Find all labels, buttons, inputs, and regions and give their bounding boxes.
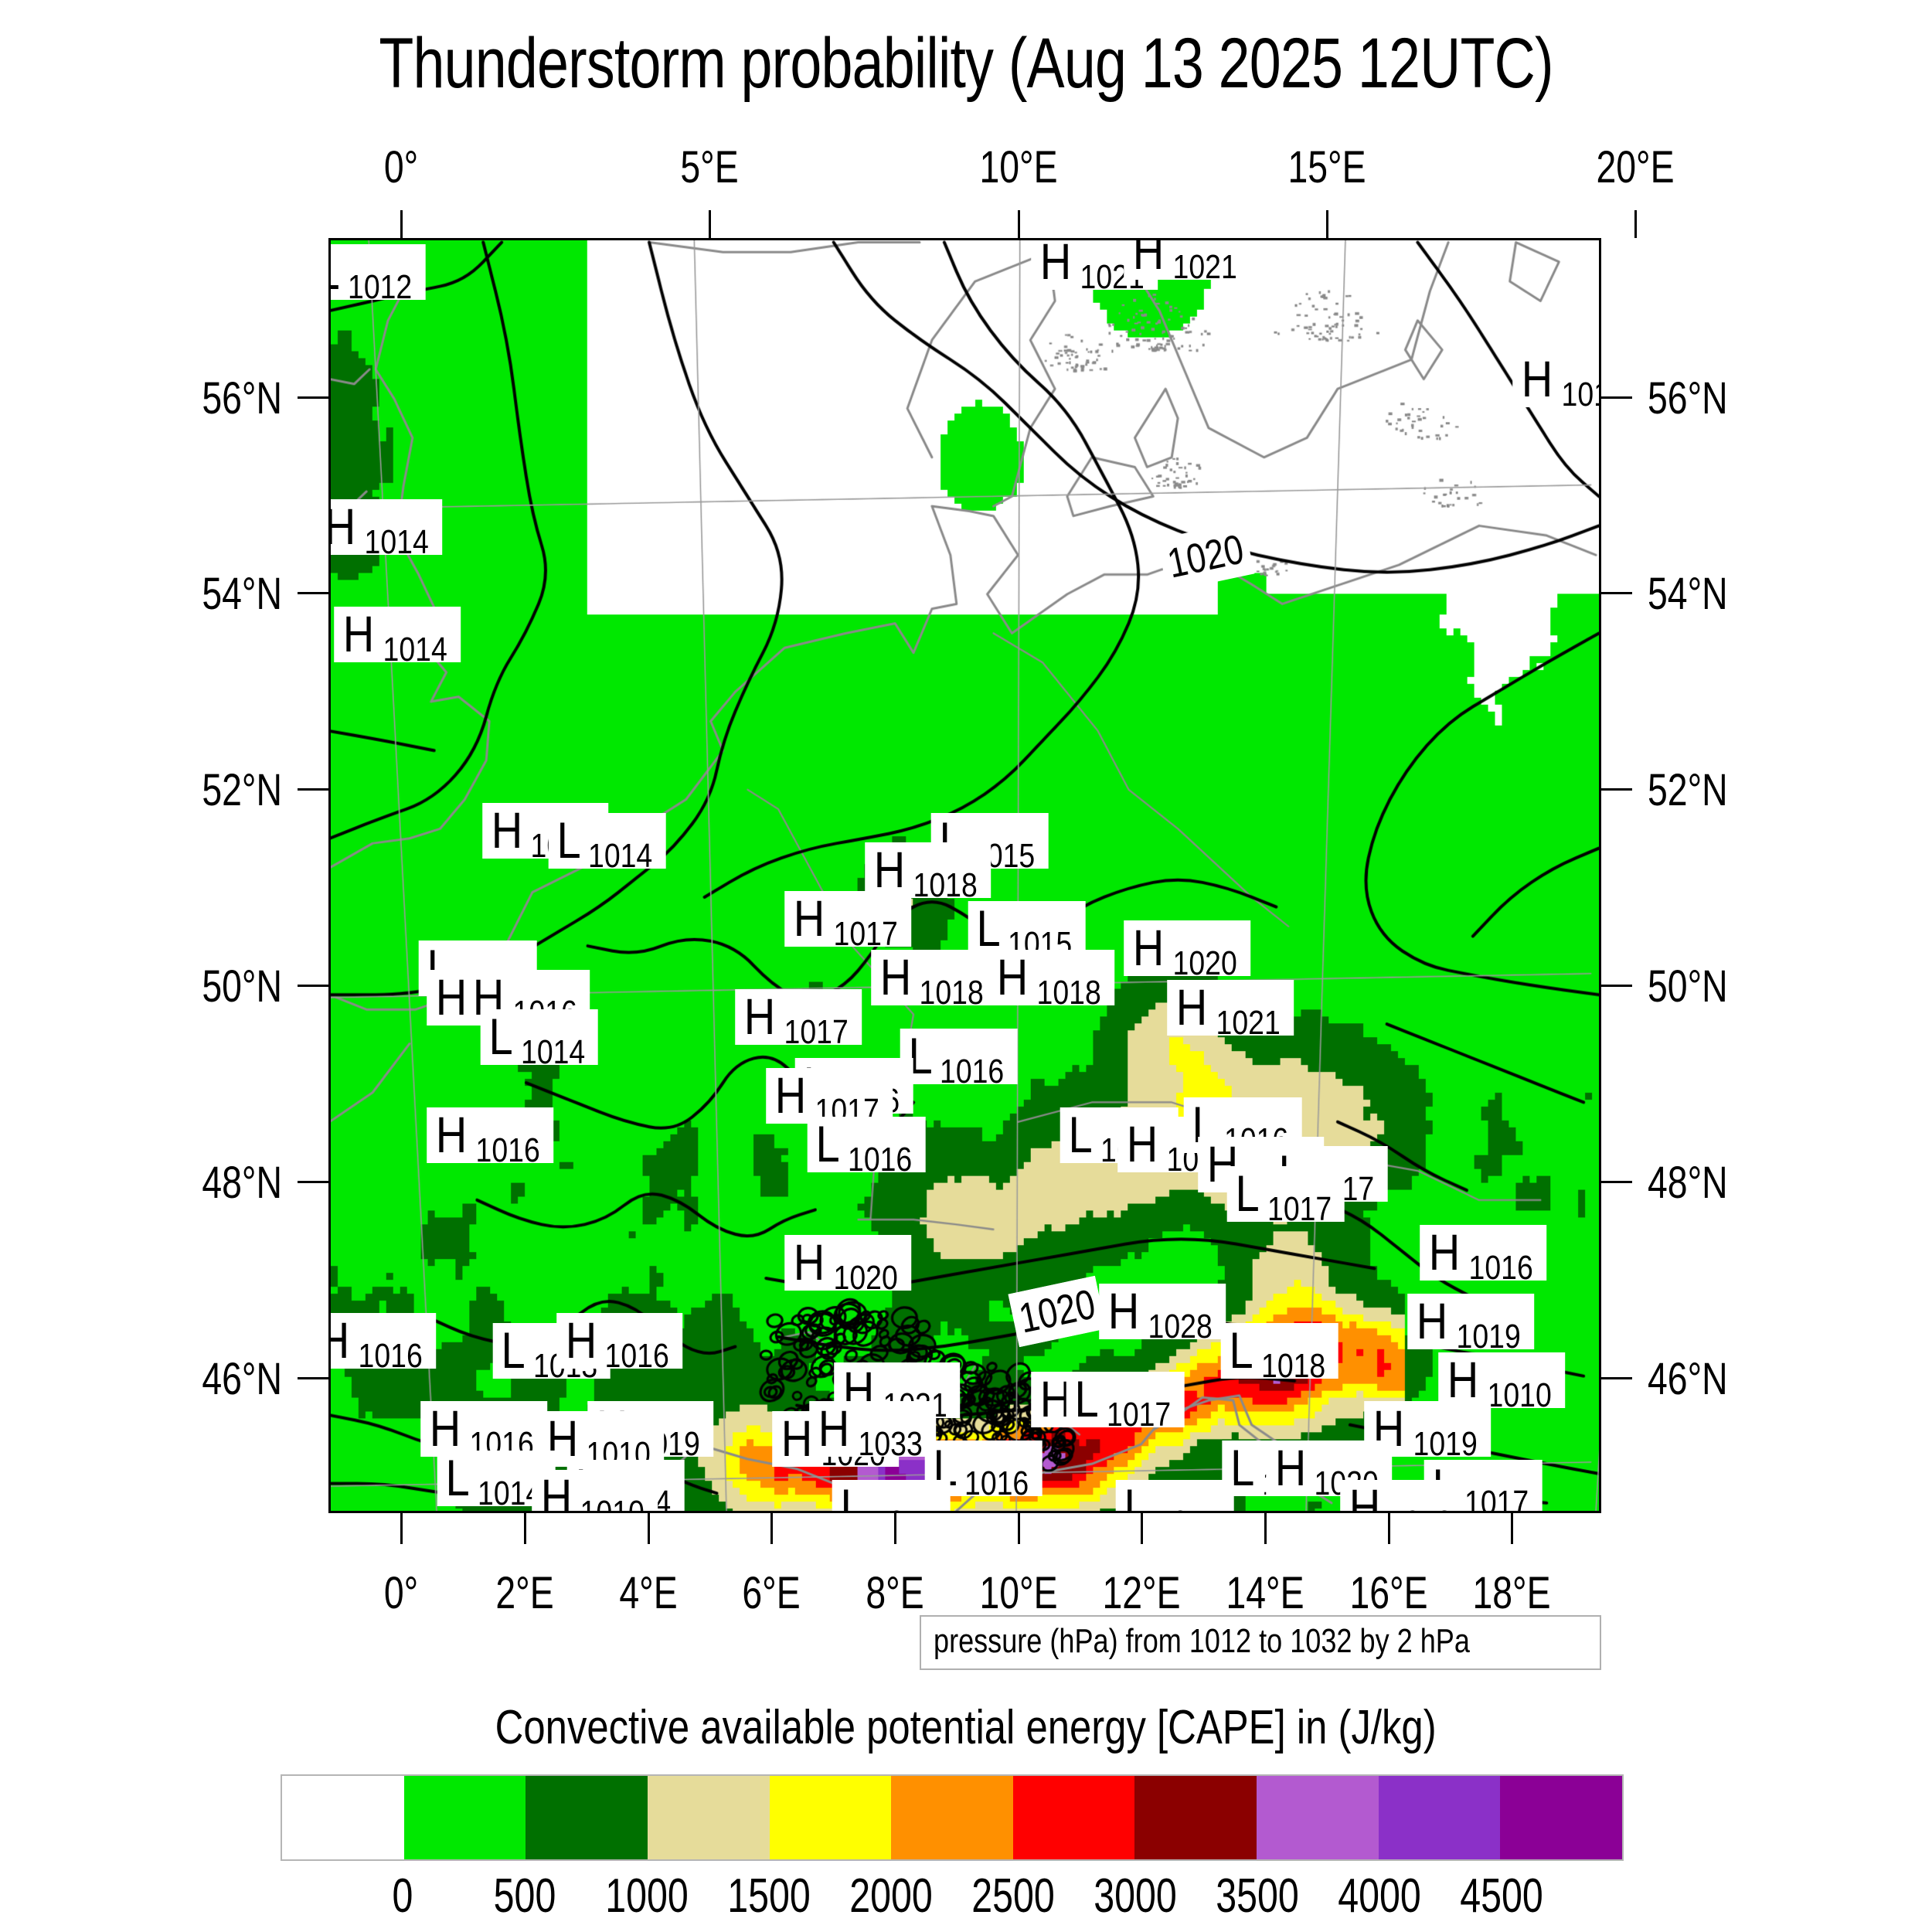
axis-label-right-3: 50°N <box>1648 961 1728 1012</box>
extremum-type: L <box>488 1011 512 1062</box>
colorbar-tick-0: 0 <box>393 1869 413 1923</box>
extremum-type: L <box>815 1118 839 1169</box>
pressure-extremum-label: H1016 <box>427 1107 553 1163</box>
colorbar-tick-4: 2000 <box>849 1869 933 1923</box>
extremum-value: 1016 <box>605 1339 669 1373</box>
axis-label-bottom-1: 2°E <box>495 1567 553 1619</box>
tick-left-4 <box>298 1181 328 1183</box>
tick-left-5 <box>298 1377 328 1379</box>
extremum-type: H <box>880 951 912 1002</box>
tick-right-5 <box>1601 1377 1632 1379</box>
extremum-type: H <box>1040 238 1072 287</box>
colorbar-segment-9[interactable] <box>1379 1776 1501 1859</box>
tick-right-1 <box>1601 592 1632 594</box>
pressure-extremum-label: H1020 <box>1124 920 1250 976</box>
tick-right-4 <box>1601 1181 1632 1183</box>
tick-bottom-2 <box>648 1513 650 1544</box>
extremum-value: 1017 <box>833 917 897 951</box>
extremum-type: L <box>1230 1442 1254 1493</box>
extremum-type: H <box>794 893 825 944</box>
tick-top-1 <box>709 210 711 238</box>
extremum-value: 1028 <box>1148 1310 1212 1344</box>
extremum-value: 1020 <box>833 1261 897 1295</box>
extremum-type: H <box>1349 1481 1380 1513</box>
pressure-extremum-label: H1018 <box>871 950 998 1005</box>
pressure-extremum-label: L1015 <box>832 1480 951 1513</box>
extremum-type: H <box>997 951 1029 1002</box>
colorbar-segment-6[interactable] <box>1013 1776 1135 1859</box>
axis-label-bottom-5: 10°E <box>979 1567 1057 1619</box>
extremum-type: L <box>1235 1168 1259 1219</box>
pressure-extremum-label: H1010 <box>538 1411 665 1467</box>
colorbar-segment-2[interactable] <box>526 1776 648 1859</box>
pressure-extremum-label: L1015 <box>1116 1480 1234 1513</box>
pressure-extremum-label: H1021 <box>1167 980 1294 1036</box>
axis-label-right-1: 54°N <box>1648 568 1728 620</box>
axis-label-right-0: 56°N <box>1648 372 1728 424</box>
extremum-value: 1019 <box>1561 378 1601 412</box>
extremum-value: 1014 <box>521 1036 585 1070</box>
colorbar-tick-1: 500 <box>494 1869 556 1923</box>
extremum-value: 1019 <box>1413 1427 1478 1461</box>
axis-label-top-2: 10°E <box>979 141 1057 193</box>
colorbar-tick-6: 3000 <box>1094 1869 1177 1923</box>
axis-label-top-0: 0° <box>384 141 418 193</box>
colorbar-tick-7: 3500 <box>1216 1869 1299 1923</box>
extremum-value: 1016 <box>940 1055 1004 1089</box>
axis-label-bottom-9: 18°E <box>1473 1567 1551 1619</box>
extremum-value: 1033 <box>858 1427 922 1461</box>
colorbar-segment-0[interactable] <box>282 1776 404 1859</box>
cape-colorbar[interactable] <box>281 1774 1624 1861</box>
extremum-value: 1016 <box>1469 1251 1533 1285</box>
pressure-extremum-label: L1012 <box>328 244 426 300</box>
map-plot-area[interactable]: 10201020L1012H1014H1014H1021H1021H1019H1… <box>328 238 1601 1513</box>
extremum-type: H <box>1108 1285 1140 1336</box>
extremum-type: L <box>328 246 340 297</box>
tick-left-3 <box>298 985 328 987</box>
pressure-extremum-label: H1021 <box>1124 238 1250 280</box>
tick-top-4 <box>1634 210 1637 238</box>
extremum-value: 1015 <box>1156 1506 1220 1513</box>
extremum-type: H <box>436 1109 468 1160</box>
extremum-value: 1016 <box>359 1339 423 1373</box>
axis-label-bottom-8: 16°E <box>1349 1567 1427 1619</box>
pressure-extremum-label: H1010 <box>1438 1352 1565 1408</box>
extremum-value: 1018 <box>1037 976 1101 1010</box>
extremum-type: H <box>1133 238 1165 277</box>
pressure-contour-note: pressure (hPa) from 1012 to 1032 by 2 hP… <box>920 1615 1601 1670</box>
extremum-value: 1010 <box>1487 1379 1551 1413</box>
axis-label-left-0: 56°N <box>202 372 282 424</box>
extremum-type: H <box>1447 1354 1479 1405</box>
tick-bottom-0 <box>400 1513 403 1544</box>
extremum-value: 1014 <box>383 633 447 667</box>
tick-right-2 <box>1601 788 1632 791</box>
pressure-extremum-label: L1014 <box>548 813 666 869</box>
extremum-value: 1014 <box>364 526 428 560</box>
colorbar-tick-3: 1500 <box>727 1869 811 1923</box>
extremum-type: H <box>874 844 906 895</box>
pressure-extremum-label: H1016 <box>328 1313 436 1369</box>
extremum-value: 1018 <box>913 869 978 903</box>
colorbar-tick-2: 1000 <box>605 1869 689 1923</box>
pressure-extremum-label: H1019 <box>1408 1294 1535 1349</box>
extremum-type: H <box>343 608 375 659</box>
extremum-type: H <box>775 1070 807 1121</box>
extremum-type: H <box>794 1236 825 1287</box>
extremum-type: L <box>840 1481 864 1513</box>
colorbar-title: Convective available potential energy [C… <box>0 1700 1932 1755</box>
axis-label-bottom-0: 0° <box>384 1567 418 1619</box>
extremum-type: L <box>976 903 1000 954</box>
axis-label-right-4: 48°N <box>1648 1157 1728 1209</box>
extremum-value: 1021 <box>1216 1006 1280 1040</box>
extremum-type: H <box>1522 353 1553 404</box>
extremum-type: L <box>1075 1373 1099 1424</box>
colorbar-tick-labels: 050010001500200025003000350040004500 <box>281 1869 1624 1930</box>
extremum-type: H <box>1133 922 1165 973</box>
tick-bottom-5 <box>1018 1513 1020 1544</box>
pressure-extremum-label: L1018 <box>1221 1323 1339 1379</box>
extremum-type: H <box>540 1471 572 1513</box>
colorbar-tick-9: 4500 <box>1460 1869 1543 1923</box>
pressure-extremum-label: H1014 <box>328 499 442 555</box>
colorbar-segment-7[interactable] <box>1134 1776 1257 1859</box>
axis-label-left-1: 54°N <box>202 568 282 620</box>
tick-left-2 <box>298 788 328 791</box>
tick-bottom-1 <box>524 1513 526 1544</box>
extremum-type: H <box>1176 981 1208 1032</box>
pressure-contour-note-text: pressure (hPa) from 1012 to 1032 by 2 hP… <box>934 1622 1470 1661</box>
axis-label-left-5: 46°N <box>202 1353 282 1405</box>
extremum-value: 1017 <box>1464 1486 1529 1513</box>
axis-label-bottom-2: 4°E <box>619 1567 677 1619</box>
tick-left-1 <box>298 592 328 594</box>
tick-bottom-3 <box>770 1513 773 1544</box>
tick-bottom-7 <box>1264 1513 1267 1544</box>
pressure-extremum-label: H1028 <box>1099 1284 1226 1339</box>
extremum-type: H <box>430 1403 461 1454</box>
colorbar-tick-8: 4000 <box>1338 1869 1421 1923</box>
extremum-type: L <box>1069 1109 1093 1160</box>
axis-label-bottom-3: 6°E <box>743 1567 801 1619</box>
axis-label-left-3: 50°N <box>202 961 282 1012</box>
extremum-type: H <box>744 991 776 1042</box>
colorbar-segment-4[interactable] <box>770 1776 892 1859</box>
extremum-type: H <box>781 1413 813 1464</box>
pressure-extremum-label: H1017 <box>784 891 911 947</box>
tick-left-0 <box>298 396 328 399</box>
colorbar-tick-5: 2500 <box>971 1869 1055 1923</box>
extremum-type: H <box>328 1315 350 1366</box>
extremum-value: 1017 <box>1267 1192 1332 1226</box>
extremum-type: L <box>556 815 580 866</box>
tick-bottom-8 <box>1388 1513 1390 1544</box>
extremum-type: H <box>818 1403 850 1454</box>
axis-label-bottom-6: 12°E <box>1103 1567 1181 1619</box>
extremum-value: 1017 <box>784 1015 848 1049</box>
tick-bottom-6 <box>1141 1513 1143 1544</box>
axis-label-top-3: 15°E <box>1287 141 1366 193</box>
extremum-value: 1016 <box>964 1467 1029 1501</box>
pressure-extremum-label: H1020 <box>784 1235 911 1291</box>
colorbar-segment-8[interactable] <box>1257 1776 1379 1859</box>
extremum-value: 1017 <box>1107 1398 1171 1432</box>
axis-label-top-1: 5°E <box>681 141 739 193</box>
pressure-extremum-label: H1016 <box>1420 1225 1547 1281</box>
extremum-type: H <box>1429 1226 1461 1277</box>
axis-label-top-4: 20°E <box>1596 141 1674 193</box>
axis-label-right-5: 46°N <box>1648 1353 1728 1405</box>
pressure-extremum-label: H1019 <box>1512 352 1601 407</box>
tick-right-3 <box>1601 985 1632 987</box>
colorbar-title-text: Convective available potential energy [C… <box>495 1700 1437 1755</box>
colorbar-segment-3[interactable] <box>648 1776 770 1859</box>
extremum-type: H <box>492 804 523 855</box>
axis-label-left-4: 48°N <box>202 1157 282 1209</box>
pressure-extremum-label: H1019 <box>1340 1480 1467 1513</box>
extremum-type: L <box>501 1325 525 1376</box>
tick-top-3 <box>1326 210 1328 238</box>
extremum-value: 1010 <box>580 1496 645 1513</box>
extremum-type: H <box>565 1315 597 1366</box>
extremum-value: 1021 <box>1172 250 1236 284</box>
pressure-extremum-label: H1018 <box>988 950 1115 1005</box>
tick-top-0 <box>400 210 403 238</box>
extremum-value: 1016 <box>475 1134 539 1168</box>
pressure-extremum-label: L1017 <box>1227 1166 1345 1222</box>
extremum-type: H <box>1127 1118 1158 1169</box>
extremum-type: H <box>436 971 468 1022</box>
tick-top-2 <box>1018 210 1020 238</box>
colorbar-segment-5[interactable] <box>891 1776 1013 1859</box>
tick-bottom-9 <box>1511 1513 1513 1544</box>
tick-bottom-4 <box>894 1513 896 1544</box>
pressure-extremum-label: H1018 <box>865 842 992 898</box>
pressure-extremum-label: H1016 <box>556 1313 683 1369</box>
colorbar-segment-1[interactable] <box>404 1776 526 1859</box>
pressure-extremum-label: L1017 <box>1066 1372 1185 1427</box>
colorbar-segment-10[interactable] <box>1500 1776 1622 1859</box>
extremum-value: 1020 <box>1172 947 1236 981</box>
extremum-value: 1016 <box>848 1143 912 1177</box>
extremum-value: 1018 <box>920 976 984 1010</box>
pressure-extremum-label: L1016 <box>808 1117 926 1172</box>
pressure-extremum-label: H1010 <box>532 1470 658 1513</box>
extremum-value: 1015 <box>872 1506 937 1513</box>
axis-label-bottom-7: 14°E <box>1226 1567 1304 1619</box>
page-title: Thunderstorm probability (Aug 13 2025 12… <box>193 23 1739 104</box>
extremum-type: L <box>1124 1481 1148 1513</box>
extremum-value: 1019 <box>1389 1506 1453 1513</box>
pressure-extremum-label: L1014 <box>481 1009 599 1065</box>
pressure-extremum-label: H1014 <box>334 607 461 662</box>
extremum-type: H <box>1417 1295 1448 1346</box>
extremum-value: 1018 <box>1261 1349 1325 1383</box>
extremum-type: L <box>1229 1325 1253 1376</box>
extremum-value: 1019 <box>1457 1320 1521 1354</box>
axis-label-bottom-4: 8°E <box>866 1567 923 1619</box>
extremum-type: L <box>445 1452 469 1503</box>
extremum-value: 1014 <box>588 839 652 873</box>
pressure-extremum-label: H1016 <box>420 1401 547 1457</box>
extremum-type: H <box>1275 1442 1307 1493</box>
extremum-type: H <box>328 501 356 552</box>
pressure-extremum-label: H1033 <box>809 1401 936 1457</box>
extremum-value: 1012 <box>348 270 412 304</box>
pressure-extremum-label: H1017 <box>735 989 862 1045</box>
axis-label-right-2: 52°N <box>1648 764 1728 816</box>
pressure-extremum-label: L1016 <box>900 1029 1018 1084</box>
tick-right-0 <box>1601 396 1632 399</box>
axis-label-left-2: 52°N <box>202 764 282 816</box>
